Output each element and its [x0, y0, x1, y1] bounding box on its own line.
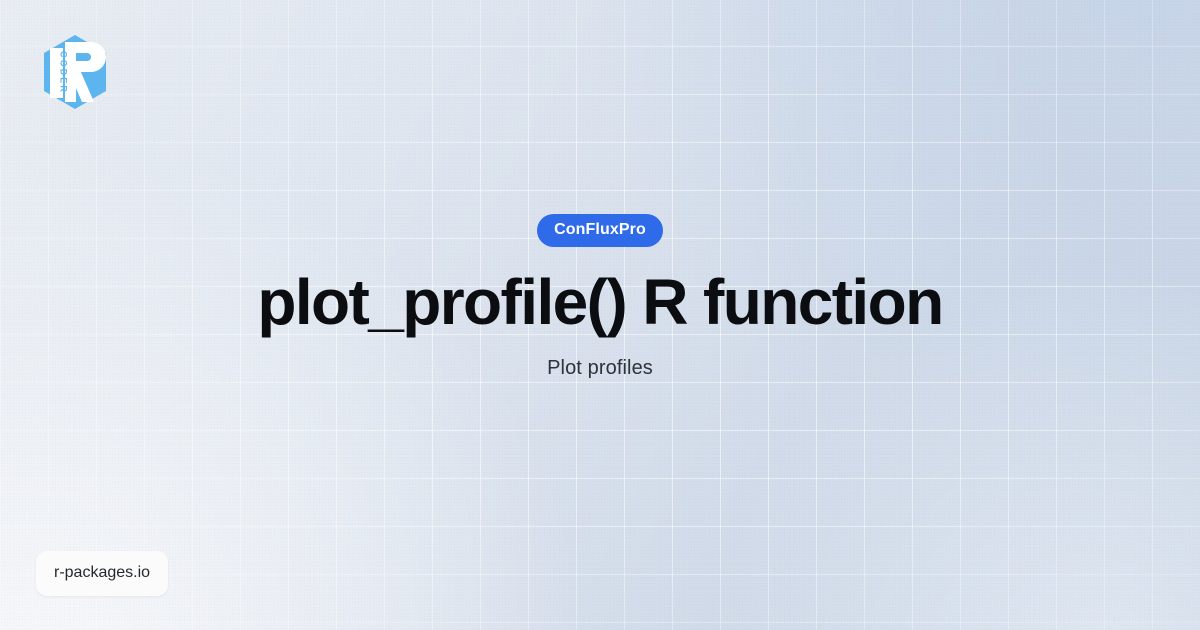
- page-title: plot_profile() R function: [257, 269, 942, 336]
- package-badge[interactable]: ConFluxPro: [537, 214, 663, 247]
- page-subtitle: Plot profiles: [547, 355, 653, 381]
- r-coder-logo[interactable]: CODER: [40, 30, 110, 114]
- hero-section: ConFluxPro plot_profile() R function Plo…: [0, 214, 1200, 381]
- logo-coder-text: CODER: [59, 51, 69, 94]
- site-url-badge[interactable]: r-packages.io: [36, 551, 168, 596]
- r-coder-hexagon-icon: CODER: [40, 30, 110, 114]
